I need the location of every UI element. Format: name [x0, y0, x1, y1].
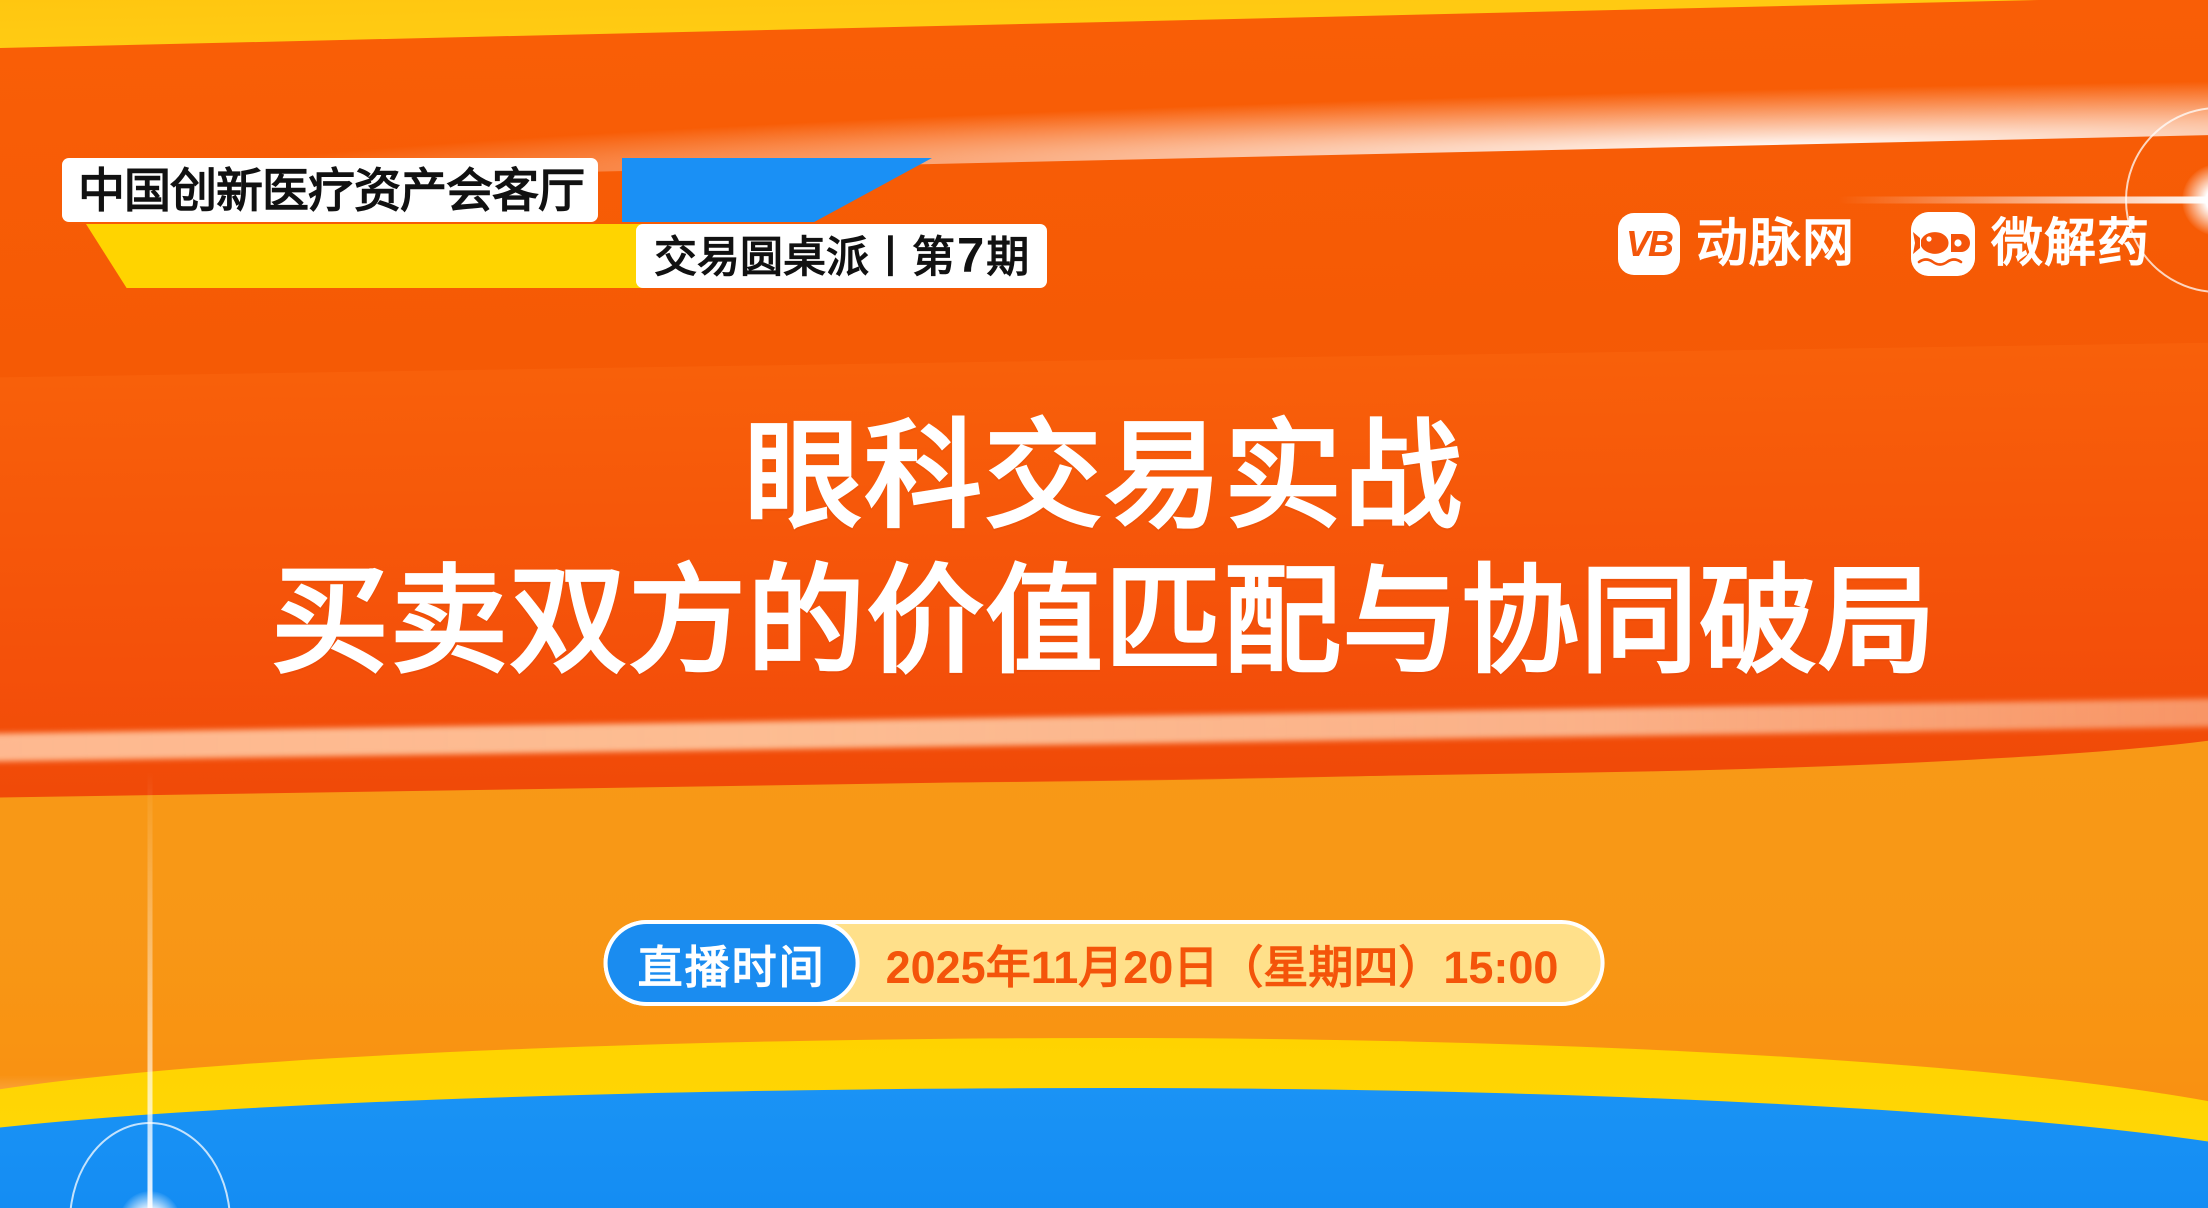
promo-poster: 中国创新医疗资产会客厅 交易圆桌派丨第7期 VB 动脉网 [0, 0, 2208, 1208]
badge-yellow-wedge [86, 224, 666, 288]
badge-subtitle-plate: 交易圆桌派丨第7期 [636, 224, 1047, 288]
logo-weijieyao[interactable]: 微解药 [1911, 212, 2150, 276]
badge-subtitle-text: 交易圆桌派丨第7期 [654, 232, 1029, 281]
logo-dongmaiwang[interactable]: VB 动脉网 [1618, 213, 1855, 275]
brand-badge: 中国创新医疗资产会客厅 交易圆桌派丨第7期 [62, 158, 1062, 294]
badge-title-text: 中国创新医疗资产会客厅 [78, 167, 584, 214]
title-line-1: 眼科交易实战 [0, 408, 2208, 547]
logo-dongmaiwang-label: 动脉网 [1696, 218, 1855, 270]
badge-issue-number: 7 [955, 229, 986, 283]
badge-subtitle-row: 交易圆桌派丨第7期 [62, 224, 1062, 294]
title-line-2: 买卖双方的价值匹配与协同破局 [0, 553, 2208, 692]
badge-title-plate: 中国创新医疗资产会客厅 [62, 158, 598, 222]
badge-title-row: 中国创新医疗资产会客厅 [62, 158, 598, 222]
badge-blue-wedge [622, 158, 932, 222]
poster-title: 眼科交易实战 买卖双方的价值匹配与协同破局 [0, 408, 2208, 692]
live-time-tag: 直播时间 [604, 920, 860, 1006]
live-time-value: 2025年11月20日（星期四）15:00 [886, 931, 1559, 996]
wjy-fish-icon [1911, 212, 1975, 276]
partner-logos: VB 动脉网 微解药 [1618, 212, 2150, 276]
badge-subtitle-prefix: 交易圆桌派丨第 [654, 234, 955, 282]
logo-weijieyao-label: 微解药 [1991, 218, 2150, 270]
badge-subtitle-suffix: 期 [986, 234, 1029, 282]
vb-logo-icon: VB [1618, 213, 1680, 275]
vb-logo-letters: VB [1626, 226, 1672, 262]
live-time-pill: 直播时间 2025年11月20日（星期四）15:00 [604, 920, 1605, 1006]
